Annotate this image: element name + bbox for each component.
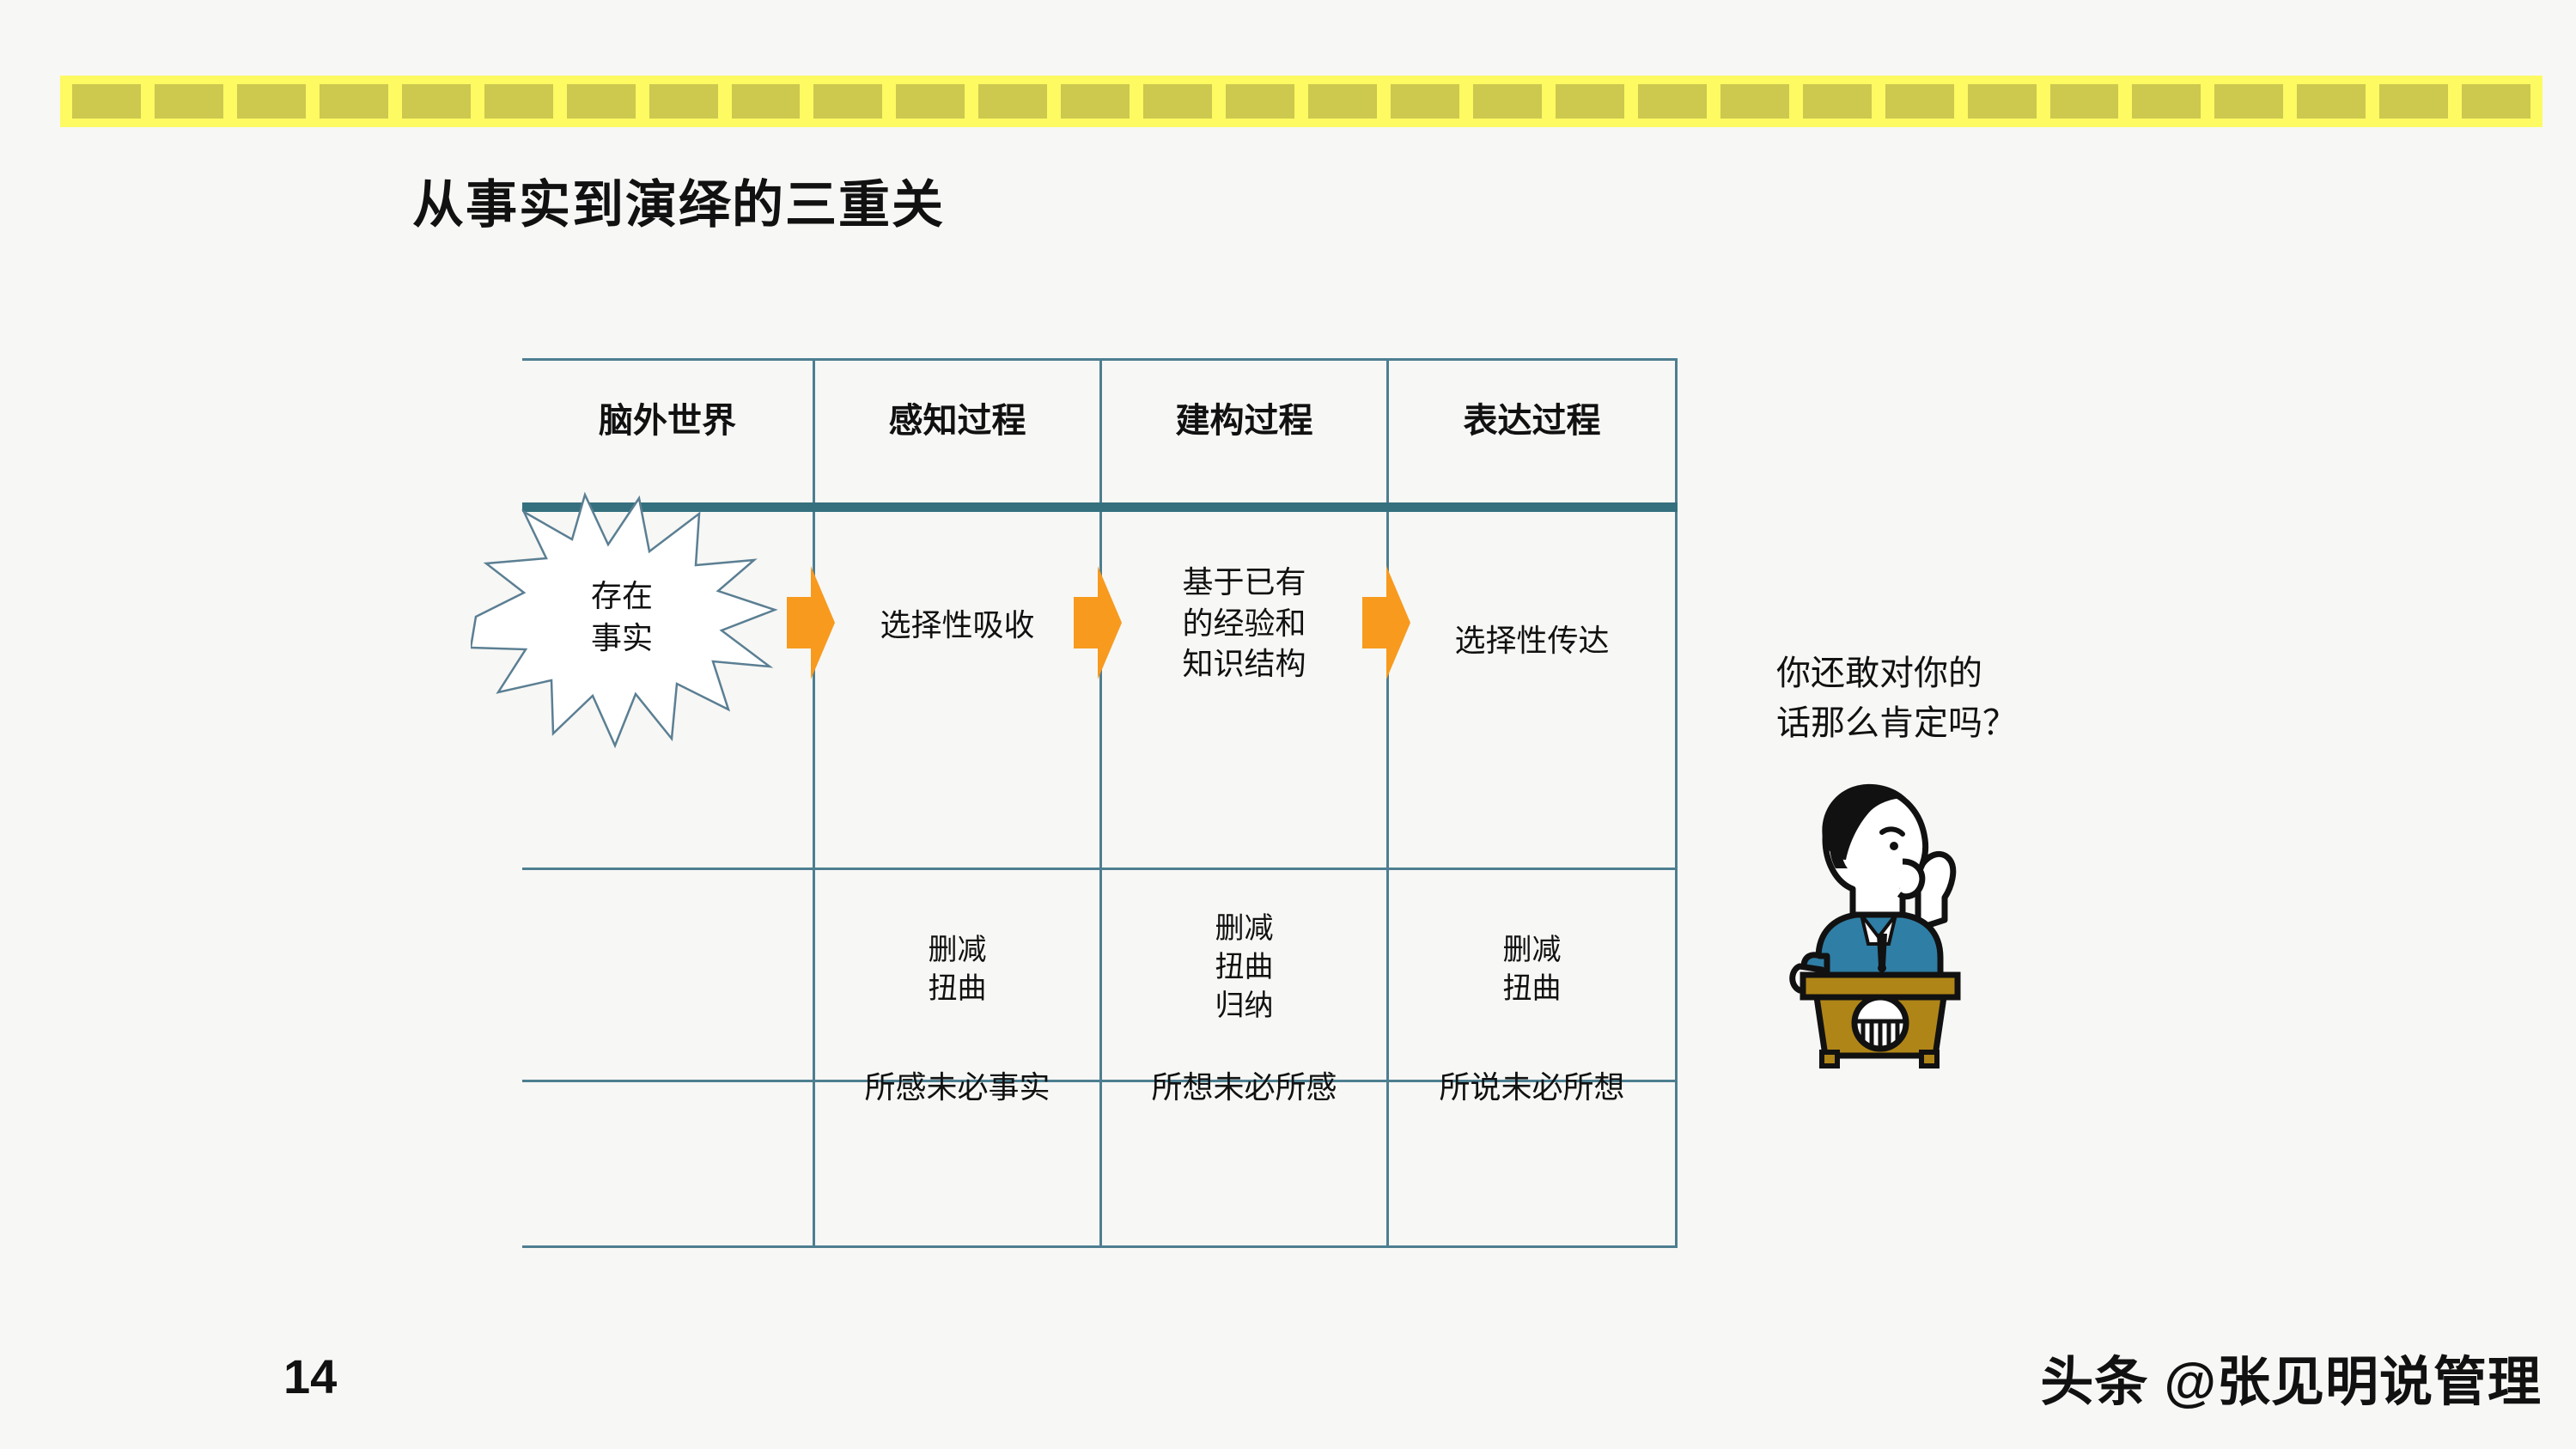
banner-tile bbox=[155, 84, 223, 119]
starburst-label: 存在 事实 bbox=[553, 575, 691, 659]
column-divider-4 bbox=[1675, 358, 1678, 1248]
banner-tile bbox=[1473, 84, 1542, 119]
banner-tile bbox=[649, 84, 718, 119]
banner-tile bbox=[1061, 84, 1130, 119]
banner-tile bbox=[2132, 84, 2201, 119]
banner-tile bbox=[978, 84, 1047, 119]
banner-tile bbox=[1720, 84, 1789, 119]
column-header-2: 感知过程 bbox=[815, 393, 1099, 442]
banner-tile bbox=[896, 84, 965, 119]
speaker-at-podium-icon bbox=[1774, 760, 2031, 1069]
starburst-icon: 存在 事实 bbox=[471, 490, 780, 756]
banner-tile bbox=[1556, 84, 1624, 119]
banner-tile bbox=[320, 84, 388, 119]
page-number: 14 bbox=[283, 1349, 337, 1404]
cell-r3-c3: 所想未必所感 bbox=[1102, 1068, 1386, 1109]
cell-r1-c2: 选择性吸收 bbox=[815, 606, 1099, 647]
banner-tile bbox=[1143, 84, 1212, 119]
row-divider-1 bbox=[522, 868, 1678, 870]
column-divider-2 bbox=[1099, 358, 1102, 1248]
cell-r3-c4: 所说未必所想 bbox=[1389, 1068, 1675, 1109]
column-header-1: 脑外世界 bbox=[522, 393, 813, 442]
banner-tile bbox=[732, 84, 801, 119]
banner-tile bbox=[813, 84, 882, 119]
banner-tile bbox=[2297, 84, 2366, 119]
banner-tile bbox=[2462, 84, 2530, 119]
cell-r2-c3: 删减 扭曲 归纳 bbox=[1102, 910, 1386, 1026]
table-top-rule bbox=[522, 358, 1678, 361]
banner-tile bbox=[72, 84, 141, 119]
banner-tile bbox=[2379, 84, 2448, 119]
table-bottom-rule bbox=[522, 1245, 1678, 1248]
banner-tile bbox=[2214, 84, 2283, 119]
banner-tile bbox=[1226, 84, 1294, 119]
banner-tile bbox=[484, 84, 553, 119]
banner-tile bbox=[1968, 84, 2037, 119]
cell-r1-c3: 基于已有 的经验和 知识结构 bbox=[1102, 563, 1386, 685]
cell-r2-c4: 删减 扭曲 bbox=[1389, 932, 1675, 1009]
cell-r1-c4: 选择性传达 bbox=[1389, 621, 1675, 662]
cell-r3-c2: 所感未必事实 bbox=[815, 1068, 1099, 1109]
banner-tile bbox=[237, 84, 306, 119]
banner-tile bbox=[1803, 84, 1872, 119]
banner-tile bbox=[2050, 84, 2119, 119]
cell-r2-c2: 删减 扭曲 bbox=[815, 932, 1099, 1009]
banner-tile bbox=[1638, 84, 1707, 119]
banner-tile bbox=[1391, 84, 1459, 119]
watermark-text: 头条 @张见明说管理 bbox=[2040, 1338, 2542, 1416]
column-header-4: 表达过程 bbox=[1389, 393, 1675, 442]
banner-tile bbox=[402, 84, 471, 119]
decorative-top-banner bbox=[60, 76, 2543, 127]
banner-tile bbox=[1308, 84, 1377, 119]
process-diagram: 脑外世界 感知过程 建构过程 表达过程 存在 事实 选择性吸收 基于已有 的经验… bbox=[522, 348, 1982, 1250]
page-title: 从事实到演绎的三重关 bbox=[412, 163, 945, 238]
column-header-3: 建构过程 bbox=[1102, 393, 1386, 442]
banner-tile bbox=[1885, 84, 1954, 119]
banner-tile bbox=[567, 84, 636, 119]
side-note-text: 你还敢对你的 话那么肯定吗？ bbox=[1776, 648, 2137, 748]
column-divider-1 bbox=[813, 358, 815, 1248]
column-divider-3 bbox=[1386, 358, 1389, 1248]
